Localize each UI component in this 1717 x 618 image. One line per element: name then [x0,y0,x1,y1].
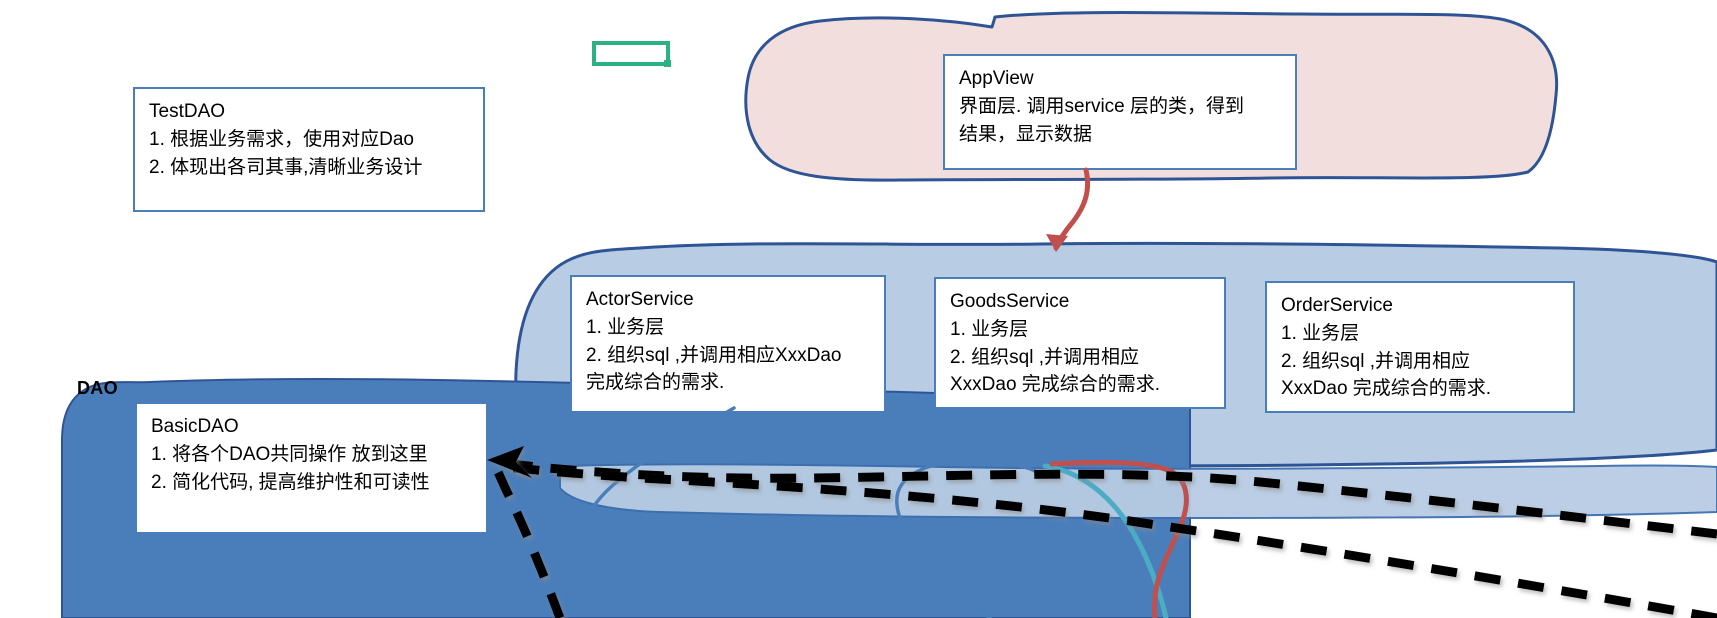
appview-to-service-arrowhead [1046,234,1068,252]
service-to-dao-curve-center [897,461,1042,618]
service-to-basicdao-dashed-2 [506,467,1717,618]
dao-to-basicdao-dashed-3 [497,470,560,618]
service-to-dao-curve-left [562,408,734,618]
order-service-connector-red [1052,462,1186,618]
green-selection-rect[interactable] [592,41,670,66]
green-resize-handle-icon[interactable] [664,60,671,67]
diagram-canvas: DAO TestDAO 1. 根据业务需求，使用对应Dao 2. 体现出各司其事… [0,0,1717,618]
service-to-basicdao-dashed-1 [510,464,1717,534]
service-to-dao-curve-teal [1045,466,1166,618]
dao-layer-label: DAO [77,378,118,399]
connector-lines [0,0,1717,618]
